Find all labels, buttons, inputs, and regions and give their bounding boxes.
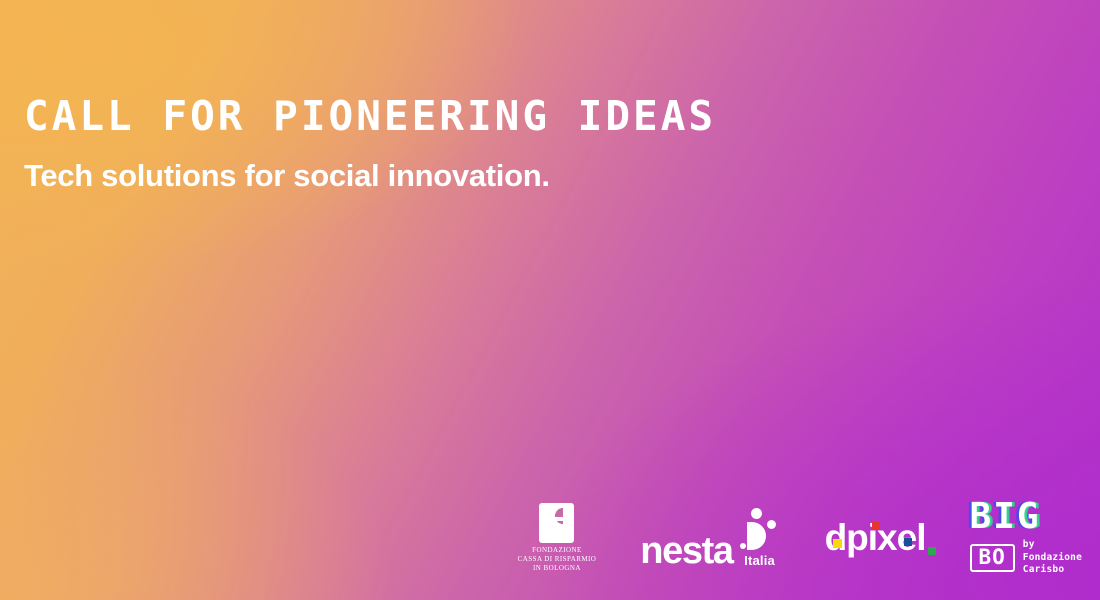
dpixel-yellow-square-icon [833,539,842,548]
bigbo-big-wordmark: BIG [970,499,1041,535]
bigbo-bo-badge: BO [970,544,1015,572]
fondazione-carisbo-logo[interactable]: Fondazione Cassa di Risparmio in Bologna [518,503,597,573]
fondazione-line-1: Fondazione [518,546,597,555]
fondazione-line-2: Cassa di Risparmio [518,555,597,564]
page-title: CALL FOR PIONEERING IDEAS [24,96,716,137]
dpixel-logo[interactable]: dpixel [825,519,926,558]
headline-block: CALL FOR PIONEERING IDEAS Tech solutions… [24,96,716,193]
bigbo-by-line-2: Fondazione [1023,552,1082,565]
bigbo-by-line-3: Carisbo [1023,564,1082,577]
dpixel-blue-square-icon [904,538,912,546]
promotional-banner: CALL FOR PIONEERING IDEAS Tech solutions… [0,0,1100,600]
nesta-circles-icon [739,508,781,554]
subtitle: Tech solutions for social innovation. [24,160,716,193]
bigbo-by-line-1: by [1023,539,1082,552]
fondazione-logo-text: Fondazione Cassa di Risparmio in Bologna [518,546,597,573]
dpixel-green-square-icon [928,547,936,555]
nesta-wordmark: nesta [640,534,732,568]
nesta-italia-logo[interactable]: nesta Italia [640,508,780,568]
bigbo-byline: by Fondazione Carisbo [1023,539,1082,577]
fondazione-line-3: in Bologna [518,564,597,573]
partner-logo-strip: Fondazione Cassa di Risparmio in Bologna… [0,498,1100,578]
dpixel-red-square-icon [872,522,880,530]
big-bo-logo[interactable]: BIG BO by Fondazione Carisbo [970,499,1083,577]
fondazione-emblem-icon [539,503,574,543]
nesta-sublabel: Italia [744,553,775,568]
